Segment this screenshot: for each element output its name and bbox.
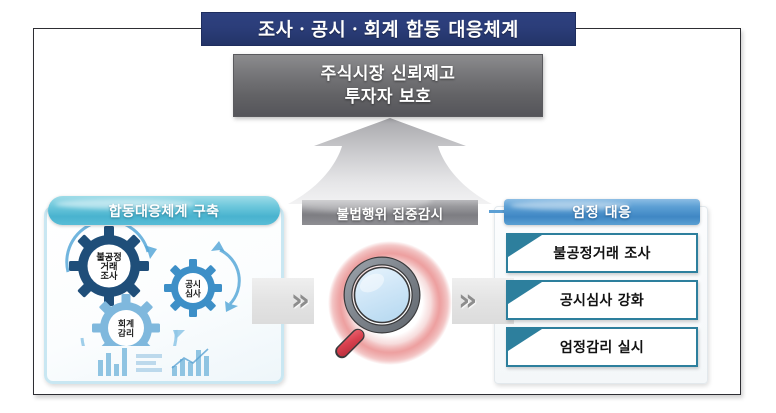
bar-chart-decoration-icon bbox=[96, 344, 214, 378]
corner-triangle-icon bbox=[508, 282, 542, 304]
gear-3-label-line-1: 회계 bbox=[118, 318, 134, 330]
goal-box: 주식시장 신뢰제고 투자자 보호 bbox=[233, 54, 543, 117]
action-item-label: 공시심사 강화 bbox=[560, 290, 644, 310]
panel-left-header-text: 합동대응체계 구축 bbox=[109, 201, 220, 221]
gear-2: 공시 심사 bbox=[164, 259, 222, 317]
action-item[interactable]: 불공정거래 조사 bbox=[506, 233, 698, 273]
panel-right-header-text: 엄정 대응 bbox=[572, 202, 631, 222]
gear-3: 회계 감리 bbox=[92, 294, 160, 346]
gear-3-label-line-2: 감리 bbox=[118, 327, 134, 339]
panel-left-header: 합동대응체계 구축 bbox=[48, 196, 280, 225]
action-item[interactable]: 엄정감리 실시 bbox=[506, 327, 698, 367]
upward-arrow bbox=[270, 118, 510, 210]
corner-triangle-icon bbox=[508, 235, 542, 257]
title-banner: 조사ㆍ공시ㆍ회계 합동 대응체계 bbox=[201, 12, 576, 46]
panel-middle-header-text: 불법행위 집중감시 bbox=[337, 203, 444, 223]
gear-1: 불공정 거래 조사 bbox=[69, 226, 149, 306]
action-item[interactable]: 공시심사 강화 bbox=[506, 280, 698, 320]
action-item-label: 불공정거래 조사 bbox=[553, 243, 650, 263]
gear-1-label-line-3: 조사 bbox=[101, 270, 118, 282]
gear-2-label-line-2: 심사 bbox=[185, 288, 201, 300]
title-banner-text: 조사ㆍ공시ㆍ회계 합동 대응체계 bbox=[258, 16, 519, 42]
panel-right-header: 엄정 대응 bbox=[504, 199, 700, 225]
corner-triangle-icon bbox=[508, 329, 542, 351]
goal-box-line-2: 투자자 보호 bbox=[345, 86, 432, 109]
gear-2-label-line-1: 공시 bbox=[185, 279, 201, 290]
goal-box-line-1: 주식시장 신뢰제고 bbox=[321, 63, 456, 86]
gear-cluster-graphic: 불공정 거래 조사 공시 심사 bbox=[52, 226, 276, 346]
magnifying-glass-icon bbox=[300, 238, 480, 370]
panel-middle-header: 불법행위 집중감시 bbox=[302, 200, 478, 225]
action-item-label: 엄정감리 실시 bbox=[560, 337, 644, 357]
